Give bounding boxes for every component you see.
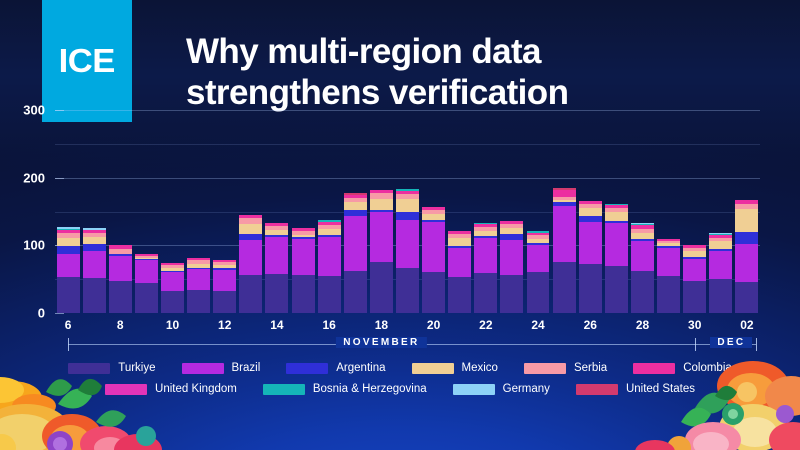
bar-segment (396, 212, 419, 220)
bar-segment (709, 279, 732, 313)
y-axis-label: 100 (23, 238, 45, 253)
bar-segment (318, 276, 341, 313)
bar-segment (448, 277, 471, 313)
legend-swatch-icon (453, 384, 495, 395)
legend-swatch-icon (263, 384, 305, 395)
bar-segment (448, 248, 471, 276)
infographic-canvas: ICE Why multi-region data strengthens ve… (0, 0, 800, 450)
bar-column[interactable] (394, 90, 420, 313)
stacked-bar-chart (55, 90, 760, 313)
x-axis-label: 28 (636, 318, 649, 332)
bar-column[interactable] (447, 90, 473, 313)
bar-segment (553, 262, 576, 313)
legend-item-label: Serbia (574, 362, 607, 374)
legend-item[interactable]: Turkiye (68, 362, 155, 374)
bar-segment (57, 246, 80, 254)
bar-segment (605, 212, 628, 221)
bar-segment (292, 275, 315, 313)
x-axis-label: 12 (218, 318, 231, 332)
x-axis-label: 30 (688, 318, 701, 332)
bar-segment (370, 199, 393, 210)
x-axis-label: 14 (270, 318, 283, 332)
bar-segment (396, 220, 419, 269)
bar-segment (735, 232, 758, 244)
bar-segment (527, 272, 550, 313)
bar-segment (553, 206, 576, 263)
bar-segment (83, 244, 106, 251)
legend-item[interactable]: Germany (453, 383, 550, 395)
legend-item[interactable]: United States (576, 383, 695, 395)
bar-segment (370, 212, 393, 261)
bar-column[interactable] (577, 90, 603, 313)
bar-column[interactable] (603, 90, 629, 313)
bar-segment (83, 237, 106, 244)
bar-column[interactable] (629, 90, 655, 313)
y-axis-label: 300 (23, 103, 45, 118)
legend-item[interactable]: Colombia (633, 362, 732, 374)
month-label-november: NOVEMBER (336, 337, 426, 348)
legend-item[interactable]: Brazil (182, 362, 261, 374)
legend-item[interactable]: Mexico (412, 362, 498, 374)
bar-column[interactable] (525, 90, 551, 313)
bar-column[interactable] (264, 90, 290, 313)
bar-segment (396, 268, 419, 313)
legend-item-label: Bosnia & Herzegovina (313, 383, 427, 395)
bar-segment (109, 256, 132, 280)
legend-item[interactable]: Bosnia & Herzegovina (263, 383, 427, 395)
legend-item-label: Germany (503, 383, 550, 395)
bar-column[interactable] (133, 90, 159, 313)
bar-column[interactable] (238, 90, 264, 313)
legend-swatch-icon (182, 363, 224, 374)
bar-segment (239, 224, 262, 234)
bar-column[interactable] (656, 90, 682, 313)
bar-segment (631, 271, 654, 313)
bar-segment (579, 208, 602, 215)
bar-segment (344, 216, 367, 271)
bar-column[interactable] (290, 90, 316, 313)
bar-column[interactable] (551, 90, 577, 313)
bar-segment (396, 199, 419, 212)
legend-row-1: TurkiyeBrazilArgentinaMexicoSerbiaColomb… (0, 362, 800, 374)
bar-segment (553, 190, 576, 197)
bar-segment (239, 240, 262, 275)
bar-segment (344, 202, 367, 209)
bar-column[interactable] (212, 90, 238, 313)
legend-swatch-icon (412, 363, 454, 374)
legend-swatch-icon (633, 363, 675, 374)
bar-segment (500, 240, 523, 275)
x-axis-label: 26 (584, 318, 597, 332)
bar-segment (187, 290, 210, 313)
legend-swatch-icon (576, 384, 618, 395)
bar-segment (683, 281, 706, 313)
x-axis-label: 02 (740, 318, 753, 332)
ice-logo-text: ICE (59, 42, 115, 80)
bar-segment (709, 251, 732, 279)
bar-segment (265, 274, 288, 313)
bar-segment (57, 238, 80, 246)
bar-column[interactable] (342, 90, 368, 313)
legend-swatch-icon (524, 363, 566, 374)
y-axis-label: 200 (23, 170, 45, 185)
bar-segment (683, 259, 706, 281)
y-axis-label: 0 (38, 306, 45, 321)
bar-segment (474, 273, 497, 313)
bar-segment (735, 209, 758, 232)
legend-swatch-icon (286, 363, 328, 374)
axis-notch (695, 338, 696, 351)
bar-segment (292, 239, 315, 275)
bar-column[interactable] (734, 90, 760, 313)
legend-item-label: Brazil (232, 362, 261, 374)
axis-notch (68, 338, 69, 351)
bar-column[interactable] (159, 90, 185, 313)
bar-segment (579, 264, 602, 313)
bar-segment (318, 237, 341, 276)
bar-segment (709, 241, 732, 248)
bar-segment (657, 276, 680, 313)
bar-segment (448, 238, 471, 246)
legend-item-label: United States (626, 383, 695, 395)
chart-legend: TurkiyeBrazilArgentinaMexicoSerbiaColomb… (0, 362, 800, 404)
bar-segment (83, 251, 106, 278)
legend-item-label: Mexico (462, 362, 498, 374)
month-label-december: DEC (710, 337, 752, 348)
legend-item[interactable]: Serbia (524, 362, 607, 374)
bar-segment (213, 270, 236, 291)
x-axis-label: 16 (322, 318, 335, 332)
bar-segment (370, 262, 393, 313)
bar-column[interactable] (186, 90, 212, 313)
bar-column[interactable] (81, 90, 107, 313)
chart-x-axis: 68101214161820222426283002NOVEMBERDEC (55, 318, 760, 354)
bar-segment (605, 266, 628, 313)
bar-segment (579, 222, 602, 264)
legend-item[interactable]: United Kingdom (105, 383, 237, 395)
bar-segment (187, 269, 210, 290)
legend-swatch-icon (105, 384, 147, 395)
x-axis-label: 22 (479, 318, 492, 332)
bar-segment (57, 254, 80, 276)
bar-segment (422, 272, 445, 313)
bar-segment (161, 291, 184, 313)
bar-segment (135, 260, 158, 283)
bar-segment (474, 238, 497, 273)
bar-segment (579, 216, 602, 223)
bar-segment (422, 214, 445, 221)
axis-notch (756, 338, 757, 351)
bar-segment (605, 223, 628, 266)
legend-item-label: Turkiye (118, 362, 155, 374)
bar-column[interactable] (368, 90, 394, 313)
bar-column[interactable] (708, 90, 734, 313)
x-axis-label: 10 (166, 318, 179, 332)
bar-segment (527, 245, 550, 272)
bar-segment (631, 241, 654, 271)
x-axis-label: 18 (375, 318, 388, 332)
x-axis-label: 20 (427, 318, 440, 332)
y-axis-tick (55, 313, 64, 314)
legend-swatch-icon (68, 363, 110, 374)
x-axis-label: 8 (117, 318, 124, 332)
bar-segment (657, 248, 680, 276)
legend-row-2: United KingdomBosnia & HerzegovinaGerman… (0, 383, 800, 395)
bar-segment (239, 275, 262, 313)
x-axis-label: 24 (531, 318, 544, 332)
bar-segment (344, 271, 367, 313)
bar-segment (161, 272, 184, 290)
legend-item-label: Argentina (336, 362, 385, 374)
legend-item-label: Colombia (683, 362, 732, 374)
bar-segment (83, 278, 106, 313)
bar-segment (500, 275, 523, 313)
bar-column[interactable] (107, 90, 133, 313)
bar-segment (135, 283, 158, 313)
legend-item-label: United Kingdom (155, 383, 237, 395)
legend-item[interactable]: Argentina (286, 362, 385, 374)
bar-segment (422, 222, 445, 272)
bar-column[interactable] (682, 90, 708, 313)
bar-segment (265, 237, 288, 273)
bar-segment (735, 244, 758, 282)
bar-segment (213, 291, 236, 313)
bar-segment (109, 281, 132, 313)
bar-column[interactable] (421, 90, 447, 313)
title-line-1: Why multi-region data (186, 32, 541, 71)
bar-segment (735, 282, 758, 313)
bar-column[interactable] (499, 90, 525, 313)
bar-segment (57, 277, 80, 313)
bar-column[interactable] (316, 90, 342, 313)
x-axis-label: 6 (65, 318, 72, 332)
bar-column[interactable] (473, 90, 499, 313)
bar-column[interactable] (55, 90, 81, 313)
